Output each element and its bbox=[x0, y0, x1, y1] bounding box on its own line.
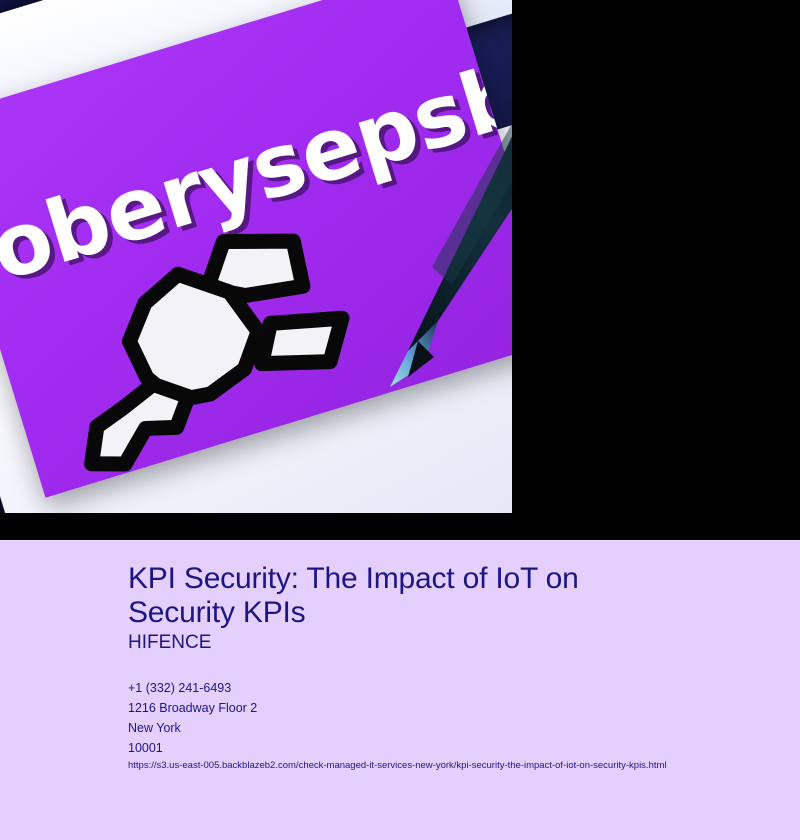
contact-zip: 10001 bbox=[128, 738, 768, 758]
media-letterbox-band: ⏫ ⚙ ⍺ ↘ oberysepsber bbox=[0, 0, 800, 540]
pen-icon bbox=[352, 35, 512, 395]
page-title: KPI Security: The Impact of IoT on Secur… bbox=[128, 562, 648, 630]
brand-name: HIFENCE bbox=[128, 632, 211, 654]
content-block: KPI Security: The Impact of IoT on Secur… bbox=[0, 540, 800, 840]
hero-image: ⏫ ⚙ ⍺ ↘ oberysepsber bbox=[0, 0, 512, 513]
contact-phone: +1 (332) 241-6493 bbox=[128, 678, 768, 698]
page-root: ⏫ ⚙ ⍺ ↘ oberysepsber bbox=[0, 0, 800, 840]
contact-block: +1 (332) 241-6493 1216 Broadway Floor 2 … bbox=[128, 678, 768, 758]
contact-street: 1216 Broadway Floor 2 bbox=[128, 698, 768, 718]
contact-city: New York bbox=[128, 718, 768, 738]
source-url: https://s3.us-east-005.backblazeb2.com/c… bbox=[128, 759, 667, 772]
